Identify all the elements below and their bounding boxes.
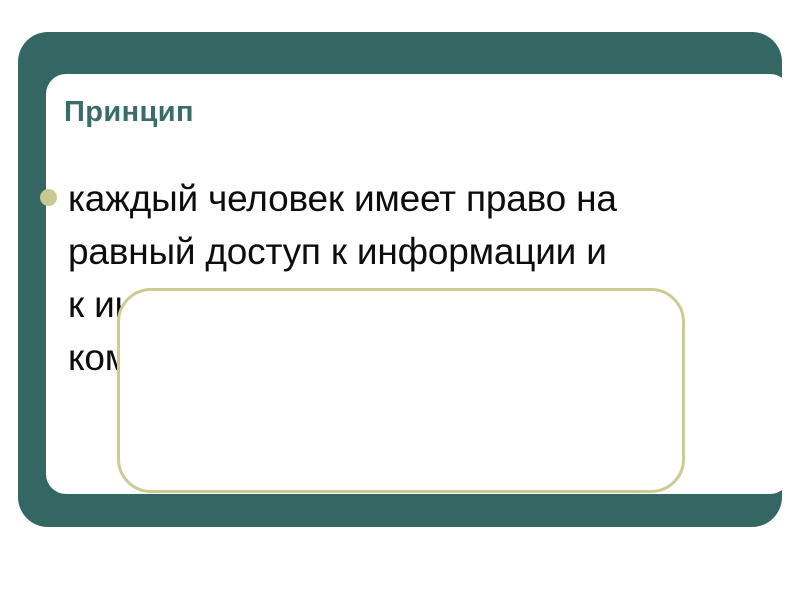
khaki-rounded-rectangle-shape[interactable]	[117, 288, 685, 493]
bullet-line-2: равный доступ к информации и	[68, 225, 756, 278]
slide-title: Принцип	[64, 96, 194, 129]
bullet-line-1: каждый человек имеет право на	[68, 172, 756, 225]
slide-canvas: Принцип каждый человек имеет право на ра…	[0, 0, 800, 600]
slide-content: Принцип каждый человек имеет право на ра…	[0, 0, 800, 600]
bullet-dot-icon	[40, 189, 57, 206]
